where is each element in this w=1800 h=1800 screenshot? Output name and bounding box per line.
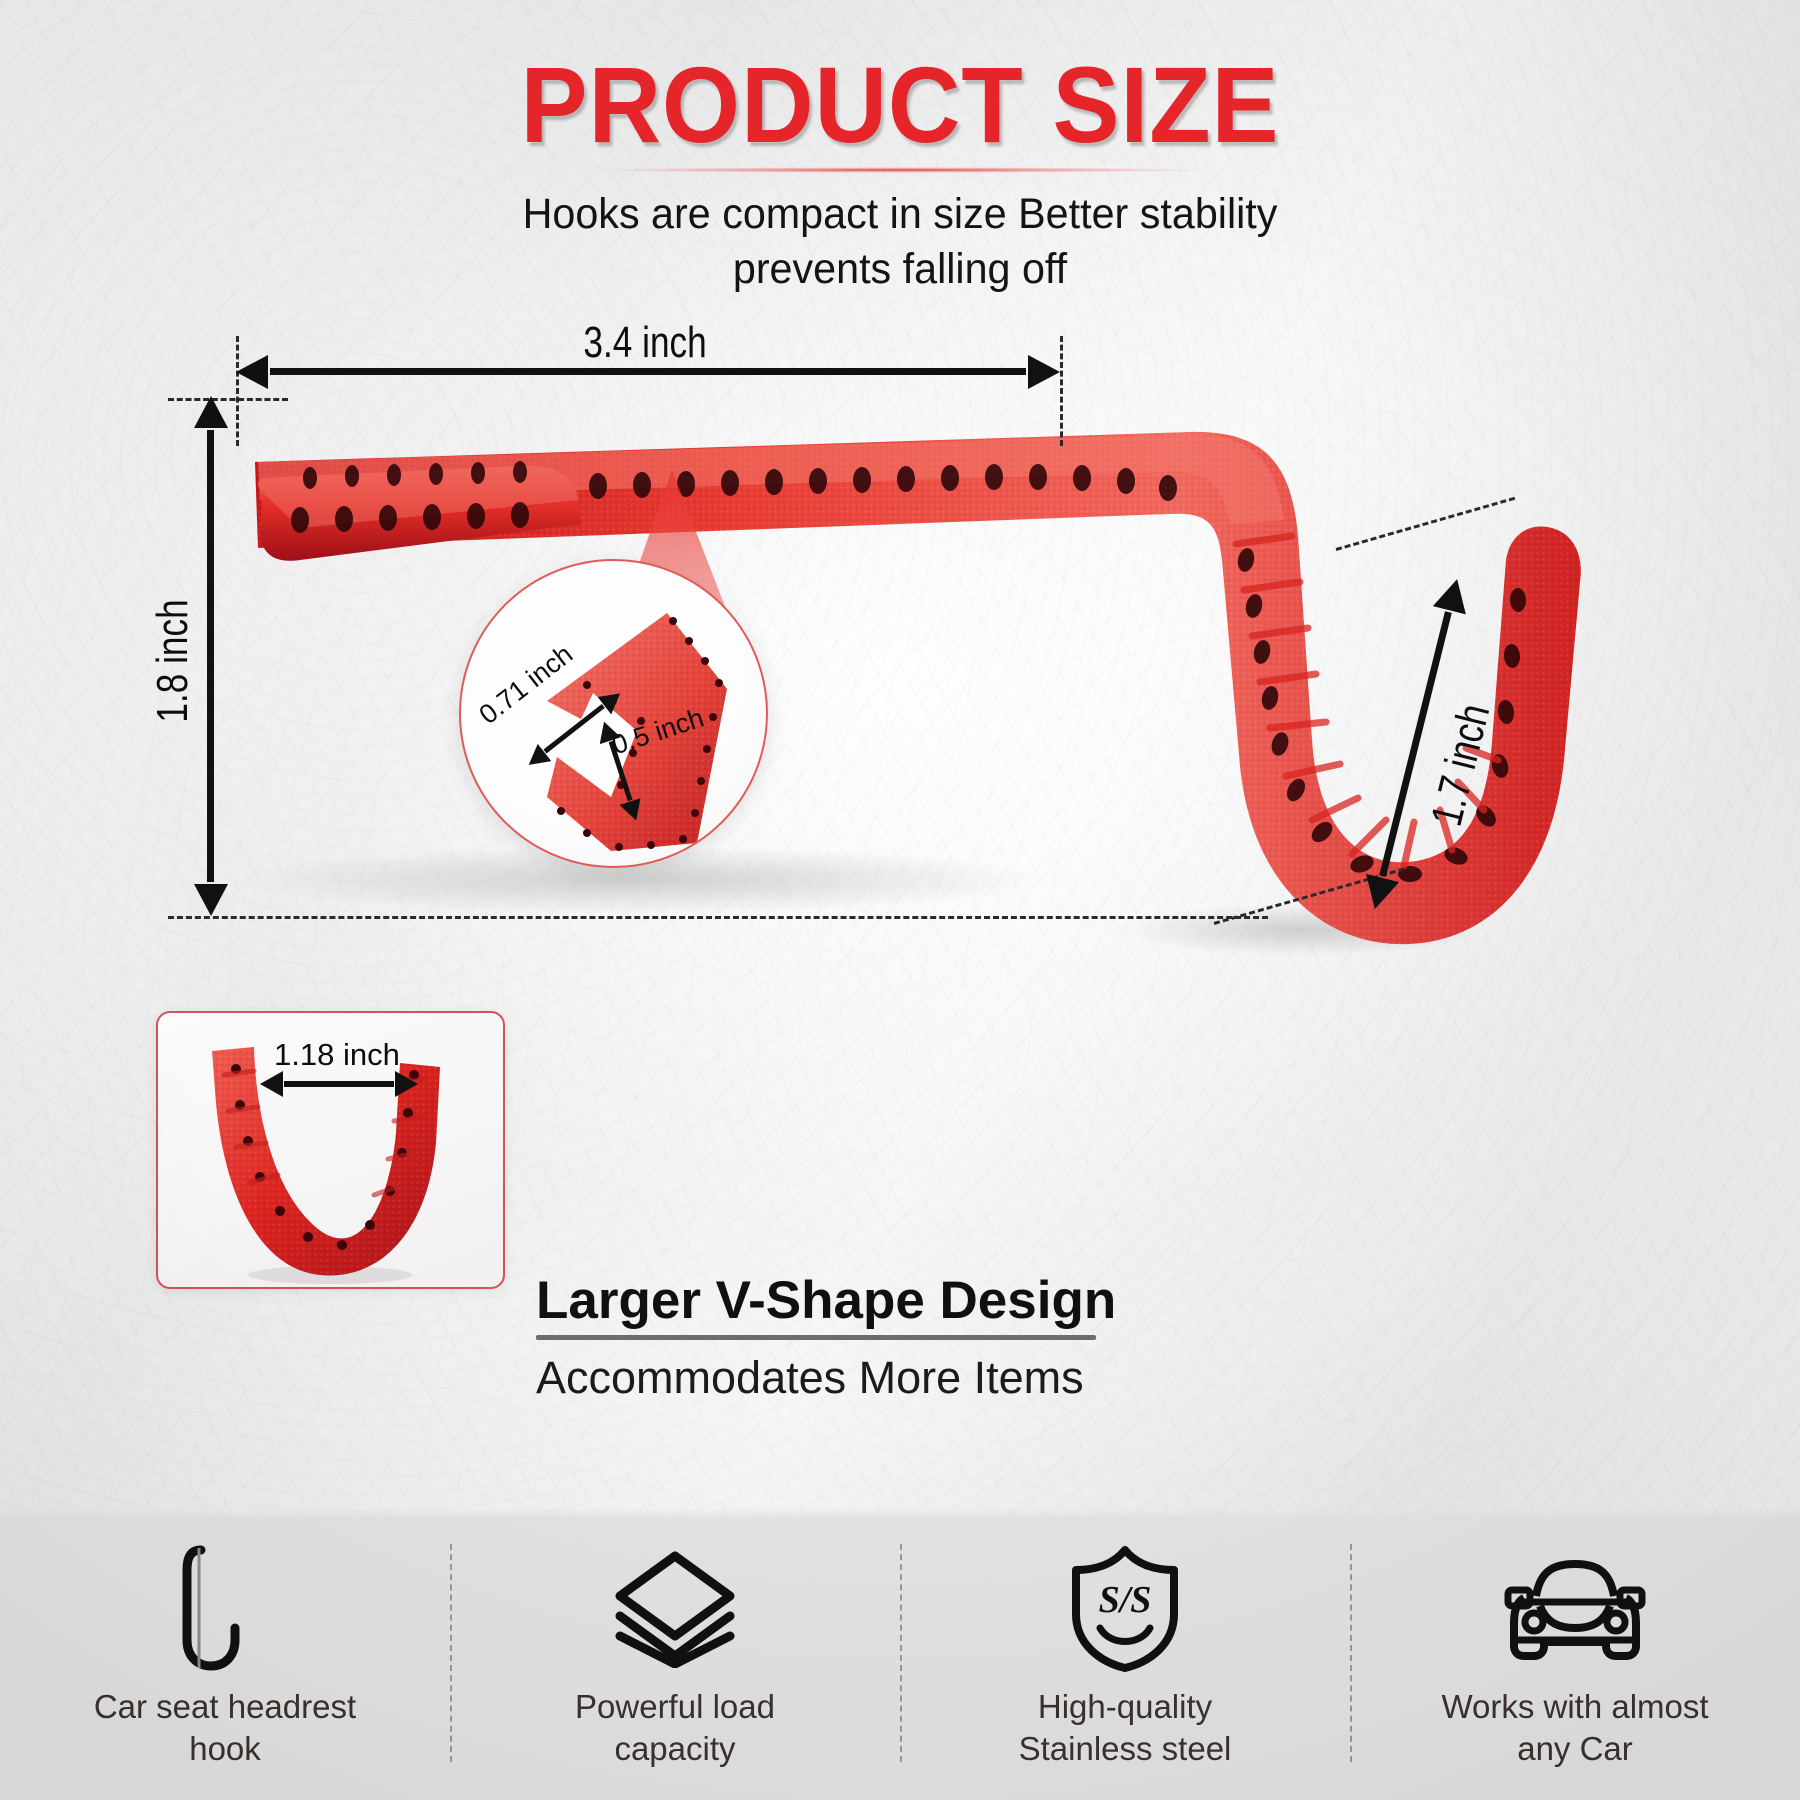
v-shape-caption: Larger V-Shape Design Accommodates More … — [536, 1272, 1156, 1404]
layers-icon — [612, 1544, 738, 1672]
feature-label-line-2: capacity — [575, 1728, 775, 1770]
feature-label-line-1: Car seat headrest — [94, 1686, 356, 1728]
magnified-detail-circle: 0.71 inch 0.5 inch — [459, 559, 768, 868]
feature-bar: Car seat headrest hook Powerful load cap… — [0, 1518, 1800, 1800]
hook-depth-dimension-label: 1.7 inch — [1422, 699, 1500, 831]
feature-label-line-1: Works with almost — [1441, 1686, 1708, 1728]
feature-label-line-2: hook — [94, 1728, 356, 1770]
subtitle-line-2: prevents falling off — [382, 242, 1419, 297]
infographic-page: PRODUCT SIZE Hooks are compact in size B… — [0, 0, 1800, 1800]
v-shape-caption-rule — [536, 1335, 1096, 1340]
feature-item-any-car: Works with almost any Car — [1350, 1518, 1800, 1800]
height-dimension-label: 1.8 inch — [148, 599, 198, 722]
v-shape-inset-card: 1.18 inch — [156, 1011, 505, 1289]
title-underline-glow — [520, 167, 1280, 173]
feature-label-headrest-hook: Car seat headrest hook — [94, 1686, 356, 1769]
v-shape-caption-subtitle: Accommodates More Items — [536, 1352, 1156, 1404]
feature-item-stainless-steel: S/S High-quality Stainless steel — [900, 1518, 1350, 1800]
feature-label-stainless-steel: High-quality Stainless steel — [1019, 1686, 1232, 1769]
width-dimension-arrow — [270, 368, 1026, 375]
feature-label-line-1: Powerful load — [575, 1686, 775, 1728]
height-dimension-arrow — [207, 430, 214, 882]
hook-icon — [177, 1544, 273, 1672]
page-title: PRODUCT SIZE — [63, 48, 1737, 161]
width-dimension-label: 3.4 inch — [583, 318, 706, 368]
feature-label-line-2: any Car — [1441, 1728, 1708, 1770]
shield-icon: S/S — [1066, 1544, 1184, 1672]
feature-item-headrest-hook: Car seat headrest hook — [0, 1518, 450, 1800]
feature-label-line-2: Stainless steel — [1019, 1728, 1232, 1770]
car-icon — [1500, 1544, 1650, 1672]
width-guide-left — [236, 336, 239, 446]
v-shape-caption-title: Larger V-Shape Design — [536, 1272, 1156, 1329]
width-guide-right — [1060, 336, 1063, 446]
subtitle-line-1: Hooks are compact in size Better stabili… — [382, 187, 1419, 242]
header: PRODUCT SIZE Hooks are compact in size B… — [0, 48, 1800, 297]
hook-depth-guide-top — [1336, 497, 1516, 551]
feature-item-load-capacity: Powerful load capacity — [450, 1518, 900, 1800]
feature-label-any-car: Works with almost any Car — [1441, 1686, 1708, 1769]
height-guide-bottom — [168, 916, 1268, 919]
header-subtitle: Hooks are compact in size Better stabili… — [382, 187, 1419, 297]
shield-badge-text: S/S — [1099, 1579, 1152, 1621]
height-guide-top — [168, 398, 288, 401]
feature-label-line-1: High-quality — [1019, 1686, 1232, 1728]
feature-label-load-capacity: Powerful load capacity — [575, 1686, 775, 1769]
inset-dimension-label: 1.18 inch — [274, 1037, 400, 1073]
inset-dimension-arrow — [284, 1081, 394, 1087]
